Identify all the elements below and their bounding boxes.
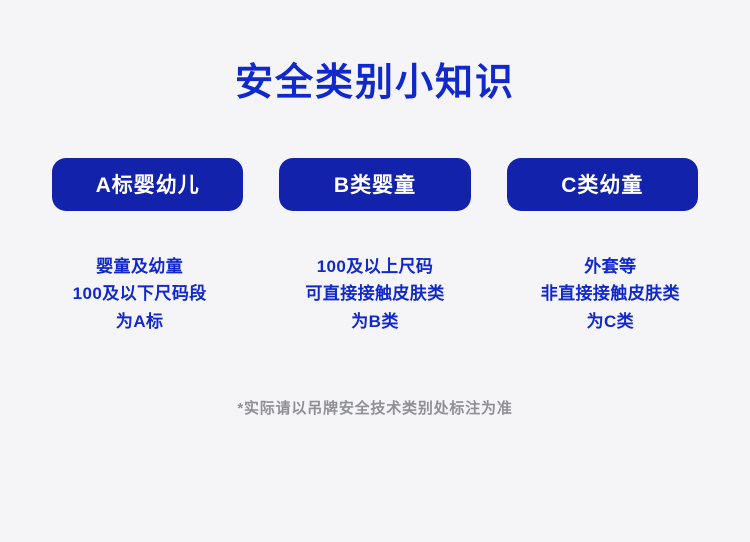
category-description-row: 婴童及幼童 100及以下尺码段 为A标 100及以上尺码 可直接接触皮肤类 为B…	[0, 253, 750, 336]
category-badge-c-label: C类幼童	[561, 169, 643, 199]
description-line: 100及以上尺码	[275, 253, 474, 281]
category-badge-a: A标婴幼儿	[52, 158, 243, 211]
category-badge-b: B类婴童	[279, 158, 470, 211]
safety-category-infographic: 安全类别小知识 A标婴幼儿 B类婴童 C类幼童 婴童及幼童 100及以下尺码段 …	[0, 0, 750, 542]
description-line: 为A标	[40, 308, 239, 336]
category-badge-row: A标婴幼儿 B类婴童 C类幼童	[0, 158, 750, 211]
description-line: 为C类	[511, 308, 710, 336]
description-line: 婴童及幼童	[40, 253, 239, 281]
page-title: 安全类别小知识	[235, 62, 515, 106]
description-line: 为B类	[275, 308, 474, 336]
category-badge-a-label: A标婴幼儿	[96, 169, 200, 199]
description-line: 外套等	[511, 253, 710, 281]
category-description-b: 100及以上尺码 可直接接触皮肤类 为B类	[275, 253, 474, 336]
description-line: 100及以下尺码段	[40, 280, 239, 308]
description-line: 非直接接触皮肤类	[511, 280, 710, 308]
category-badge-b-label: B类婴童	[334, 169, 416, 199]
category-badge-c: C类幼童	[507, 158, 698, 211]
description-line: 可直接接触皮肤类	[275, 280, 474, 308]
category-description-c: 外套等 非直接接触皮肤类 为C类	[511, 253, 710, 336]
category-description-a: 婴童及幼童 100及以下尺码段 为A标	[40, 253, 239, 336]
footnote-disclaimer: *实际请以吊牌安全技术类别处标注为准	[237, 397, 512, 418]
